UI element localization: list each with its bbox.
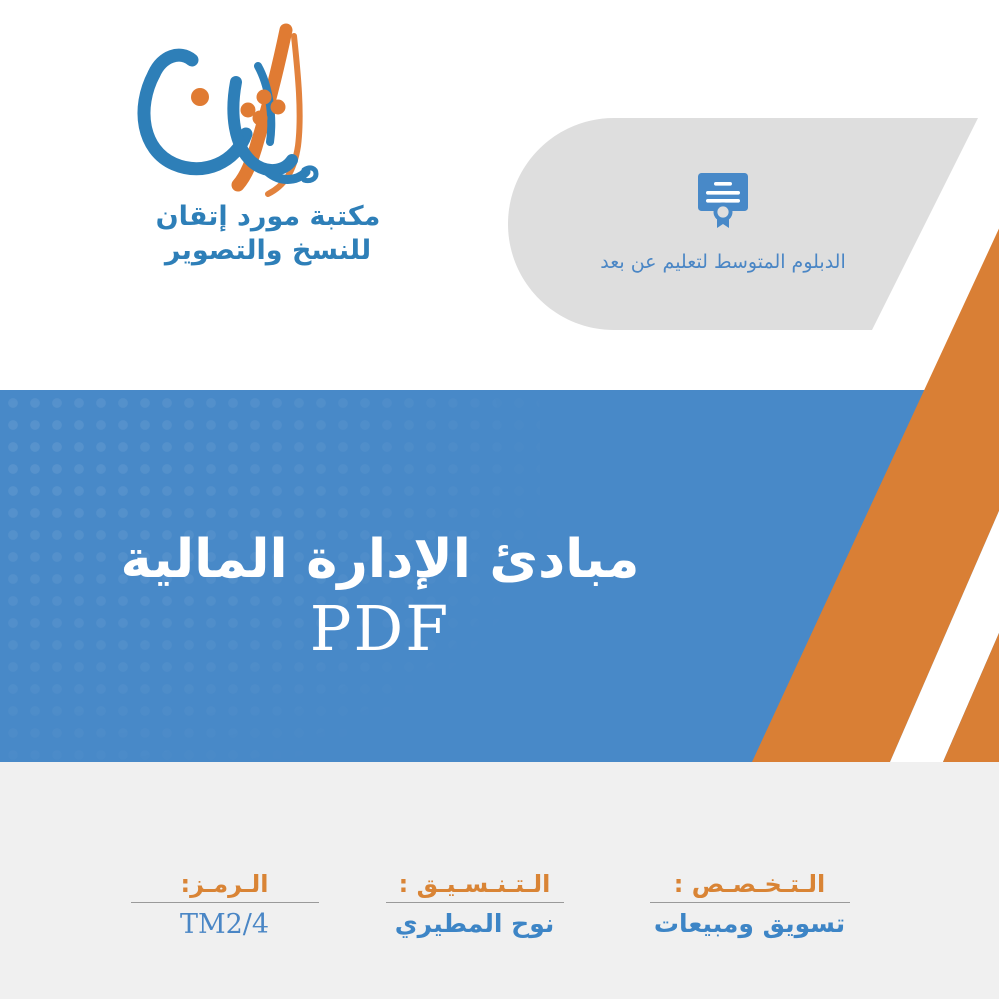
program-badge-label: الدبلوم المتوسط لتعليم عن بعد — [600, 251, 846, 273]
program-badge-content: الدبلوم المتوسط لتعليم عن بعد — [508, 118, 938, 330]
book-title: مبادئ الإدارة المالية — [121, 528, 640, 592]
logo-text-line2: للنسخ والتصوير — [118, 234, 418, 268]
meta-divider — [650, 902, 850, 903]
metadata-row: الـتـخـصـص : تسويق ومبيعات الـتـنـسـيـق … — [0, 870, 999, 940]
meta-divider — [386, 902, 564, 903]
meta-divider — [131, 902, 319, 903]
meta-specialization-value: تسويق ومبيعات — [600, 909, 900, 938]
meta-coordination-value: نوح المطيري — [350, 909, 600, 938]
meta-code-value: TM2/4 — [100, 909, 350, 940]
logo-text-line1: مكتبة مورد إتقان — [118, 200, 418, 234]
book-format-label: PDF — [310, 598, 450, 660]
itqan-calligraphy-logo — [118, 22, 418, 200]
publisher-logo: مكتبة مورد إتقان للنسخ والتصوير — [118, 22, 418, 282]
program-badge: الدبلوم المتوسط لتعليم عن بعد — [508, 118, 999, 330]
title-block: مبادئ الإدارة المالية PDF — [0, 390, 760, 762]
footer-area: الـتـخـصـص : تسويق ومبيعات الـتـنـسـيـق … — [0, 762, 999, 999]
meta-coordination-label: الـتـنـسـيـق : — [350, 870, 600, 898]
meta-specialization-label: الـتـخـصـص : — [600, 870, 900, 898]
meta-code: الـرمـز: TM2/4 — [100, 870, 350, 940]
certificate-icon — [696, 171, 750, 229]
meta-code-label: الـرمـز: — [100, 870, 350, 898]
meta-coordination: الـتـنـسـيـق : نوح المطيري — [350, 870, 600, 938]
meta-specialization: الـتـخـصـص : تسويق ومبيعات — [600, 870, 900, 938]
book-cover-page: مكتبة مورد إتقان للنسخ والتصوير الدبلوم … — [0, 0, 999, 999]
